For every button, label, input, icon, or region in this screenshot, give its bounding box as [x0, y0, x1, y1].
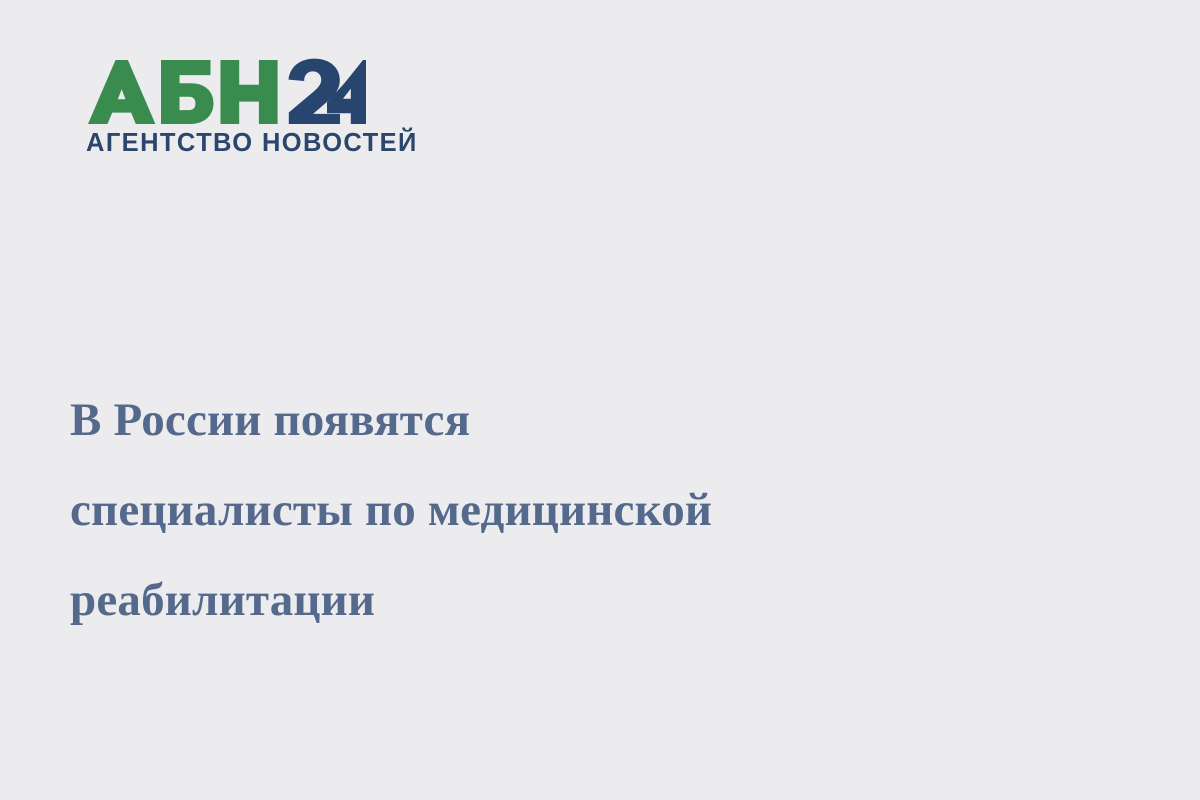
chart-bar-2	[993, 233, 1060, 800]
headline-line-1: В России появятся	[70, 375, 870, 465]
chart-bar-3	[1078, 288, 1143, 713]
chart-bar-1	[911, 151, 977, 626]
page-title: В России появятся специалисты по медицин…	[70, 375, 870, 645]
news-card: АГЕНТСТВО НОВОСТЕЙ В России появятся спе…	[0, 0, 1200, 800]
brand-logo: АГЕНТСТВО НОВОСТЕЙ	[86, 58, 368, 157]
headline-line-2: специалисты по медицинской	[70, 465, 870, 555]
headline-line-3: реабилитации	[70, 555, 870, 645]
abn24-logo-icon	[86, 58, 368, 126]
brand-tagline: АГЕНТСТВО НОВОСТЕЙ	[86, 131, 368, 157]
